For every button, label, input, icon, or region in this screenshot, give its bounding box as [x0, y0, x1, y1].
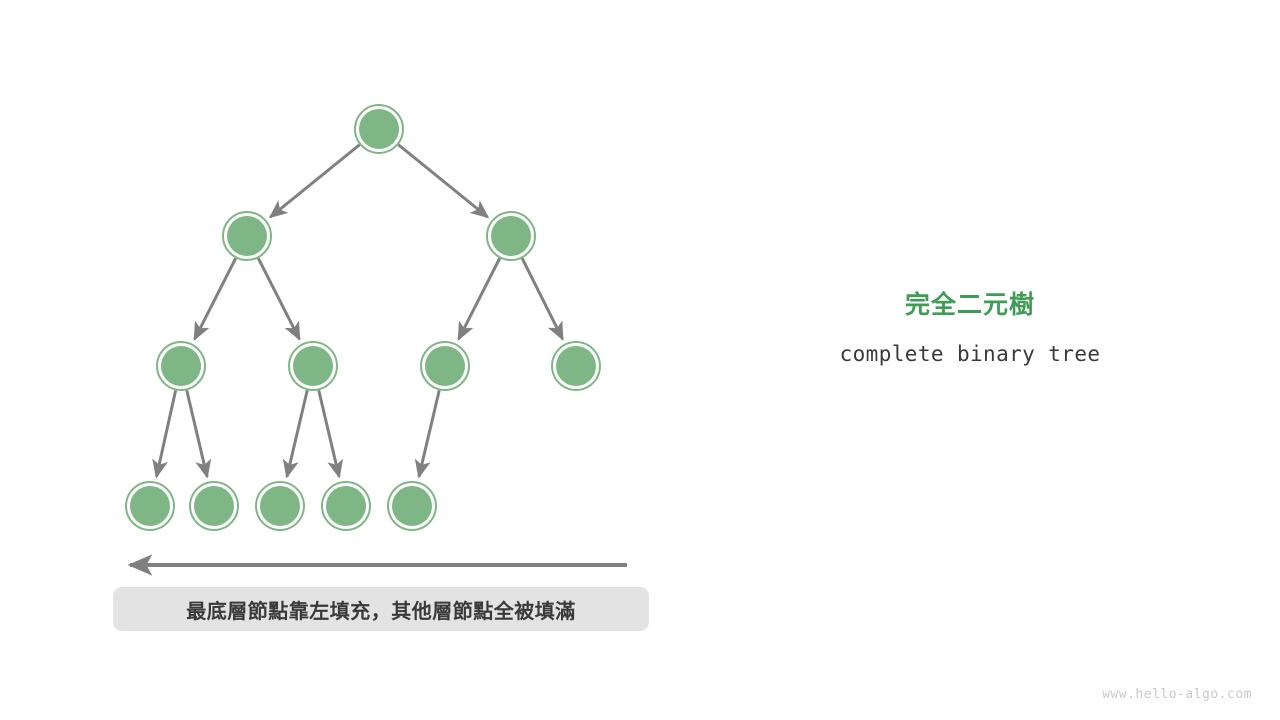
- tree-node: [421, 342, 469, 390]
- tree-node: [487, 212, 535, 260]
- node-disc: [293, 346, 333, 386]
- tree-node: [388, 482, 436, 530]
- tree-edge: [419, 390, 439, 476]
- tree-type-subtitle: complete binary tree: [760, 342, 1180, 366]
- tree-edge: [287, 390, 307, 476]
- tree-node: [322, 482, 370, 530]
- tree-edge: [398, 145, 487, 217]
- node-disc: [359, 109, 399, 149]
- tree-node: [190, 482, 238, 530]
- tree-edge: [270, 145, 359, 217]
- node-disc: [491, 216, 531, 256]
- watermark-url: www.hello-algo.com: [1102, 687, 1252, 702]
- caption-badge: 最底層節點靠左填充，其他層節點全被填滿: [113, 587, 649, 631]
- tree-edge: [156, 390, 175, 476]
- node-disc: [161, 346, 201, 386]
- tree-nodes: [126, 105, 600, 530]
- tree-edge: [522, 258, 562, 339]
- caption-label: 最底層節點靠左填充，其他層節點全被填滿: [186, 595, 576, 624]
- node-disc: [556, 346, 596, 386]
- node-disc: [227, 216, 267, 256]
- node-disc: [130, 486, 170, 526]
- node-disc: [194, 486, 234, 526]
- tree-edge: [187, 390, 207, 476]
- node-disc: [260, 486, 300, 526]
- tree-node: [223, 212, 271, 260]
- tree-node: [157, 342, 205, 390]
- tree-edge: [258, 258, 299, 339]
- tree-type-title: 完全二元樹: [760, 290, 1180, 321]
- tree-edge: [319, 390, 339, 476]
- diagram-canvas: 完全二元樹 complete binary tree 最底層節點靠左填充，其他層…: [0, 0, 1280, 720]
- tree-edges: [156, 145, 562, 477]
- node-disc: [326, 486, 366, 526]
- legend-block: 完全二元樹 complete binary tree: [760, 290, 1180, 366]
- tree-node: [126, 482, 174, 530]
- tree-node: [355, 105, 403, 153]
- node-disc: [425, 346, 465, 386]
- tree-node: [256, 482, 304, 530]
- tree-node: [289, 342, 337, 390]
- tree-node: [552, 342, 600, 390]
- tree-edge: [459, 258, 500, 339]
- tree-edge: [195, 258, 236, 339]
- node-disc: [392, 486, 432, 526]
